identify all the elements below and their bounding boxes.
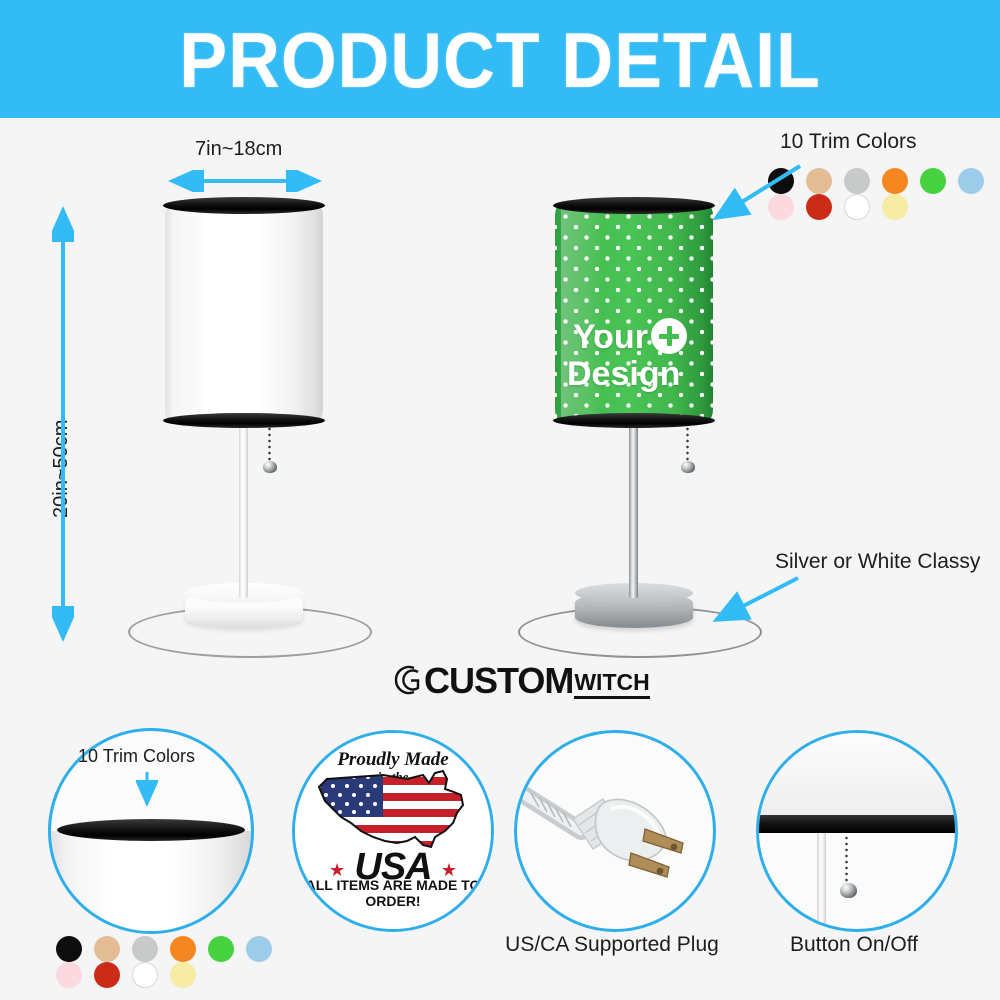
trim-colors-pointer-arrow: [700, 160, 810, 230]
page-title: PRODUCT DETAIL: [40, 18, 960, 102]
trim-swatch-light-blue[interactable]: [958, 168, 984, 194]
trim-swatch-orange[interactable]: [170, 936, 196, 962]
switch-shade-trim: [756, 815, 958, 833]
trim-swatch-tan[interactable]: [94, 936, 120, 962]
shade-preview-trim: [57, 819, 245, 841]
trim-colors-inner-arrow: [136, 770, 158, 812]
logo-primary-text: CUSTOM: [424, 663, 573, 699]
pull-chain-knob[interactable]: [263, 461, 277, 473]
width-dimension-arrow: [160, 170, 330, 192]
design-line-1: Your: [573, 319, 648, 356]
trim-swatch-green[interactable]: [920, 168, 946, 194]
switch-feature: [756, 730, 958, 932]
usa-badge: Proudly Made in the: [295, 733, 491, 929]
trim-swatch-gray[interactable]: [132, 936, 158, 962]
plug-feature-caption: US/CA Supported Plug: [494, 933, 730, 957]
switch-shade-body: [759, 733, 955, 819]
trim-color-swatches-bottom[interactable]: [56, 936, 296, 988]
product-illustration-stage: 7in~18cm 20in~50cm: [0, 118, 1000, 1000]
brand-logo: CUSTOM WITCH: [392, 663, 650, 699]
switch-pull-chain[interactable]: [845, 835, 848, 885]
switch-feature-caption: Button On/Off: [736, 933, 972, 957]
design-line-2: Design: [567, 356, 680, 393]
lamp-pole: [629, 423, 638, 598]
trim-colors-inner-label: 10 Trim Colors: [78, 746, 195, 767]
lamp-shade-surface: [165, 206, 323, 419]
header-bar: PRODUCT DETAIL: [0, 0, 1000, 118]
plus-circle-icon[interactable]: [651, 318, 687, 354]
trim-swatch-green[interactable]: [208, 936, 234, 962]
trim-swatch-white[interactable]: [132, 962, 158, 988]
plug-feature: [514, 730, 716, 932]
lamp-pole: [239, 423, 248, 598]
height-dimension-arrow: [52, 198, 74, 648]
lamp-shade: Your Design: [555, 206, 713, 419]
trim-swatch-red[interactable]: [94, 962, 120, 988]
trim-swatch-pink[interactable]: [56, 962, 82, 988]
switch-lamp-pole: [817, 833, 826, 929]
lamp-shade: [165, 206, 323, 419]
shade-trim-top: [553, 197, 715, 214]
c-arc-logo-icon: [392, 663, 426, 697]
made-in-usa-feature: Proudly Made in the: [292, 730, 494, 932]
width-dimension-label: 7in~18cm: [195, 138, 282, 161]
shade-trim-bottom: [553, 413, 715, 428]
trim-swatch-white[interactable]: [844, 194, 870, 220]
trim-swatch-light-blue[interactable]: [246, 936, 272, 962]
trim-swatch-gray[interactable]: [844, 168, 870, 194]
trim-swatch-orange[interactable]: [882, 168, 908, 194]
shade-preview-body: [51, 831, 251, 931]
switch-pull-chain-knob[interactable]: [840, 883, 857, 898]
base-finish-pointer-arrow: [700, 570, 810, 630]
us-power-plug-icon: [517, 733, 713, 929]
shade-trim-bottom: [163, 413, 325, 428]
trim-swatch-yellow[interactable]: [882, 194, 908, 220]
pull-chain-knob[interactable]: [681, 461, 695, 473]
logo-secondary-text: WITCH: [574, 669, 649, 699]
trim-swatch-yellow[interactable]: [170, 962, 196, 988]
trim-colors-label: 10 Trim Colors: [780, 130, 917, 154]
shade-trim-top: [163, 197, 325, 214]
trim-swatch-black[interactable]: [56, 936, 82, 962]
usa-badge-sub-text: ALL ITEMS ARE MADE TO ORDER!: [295, 877, 491, 909]
pull-chain[interactable]: [686, 420, 689, 463]
